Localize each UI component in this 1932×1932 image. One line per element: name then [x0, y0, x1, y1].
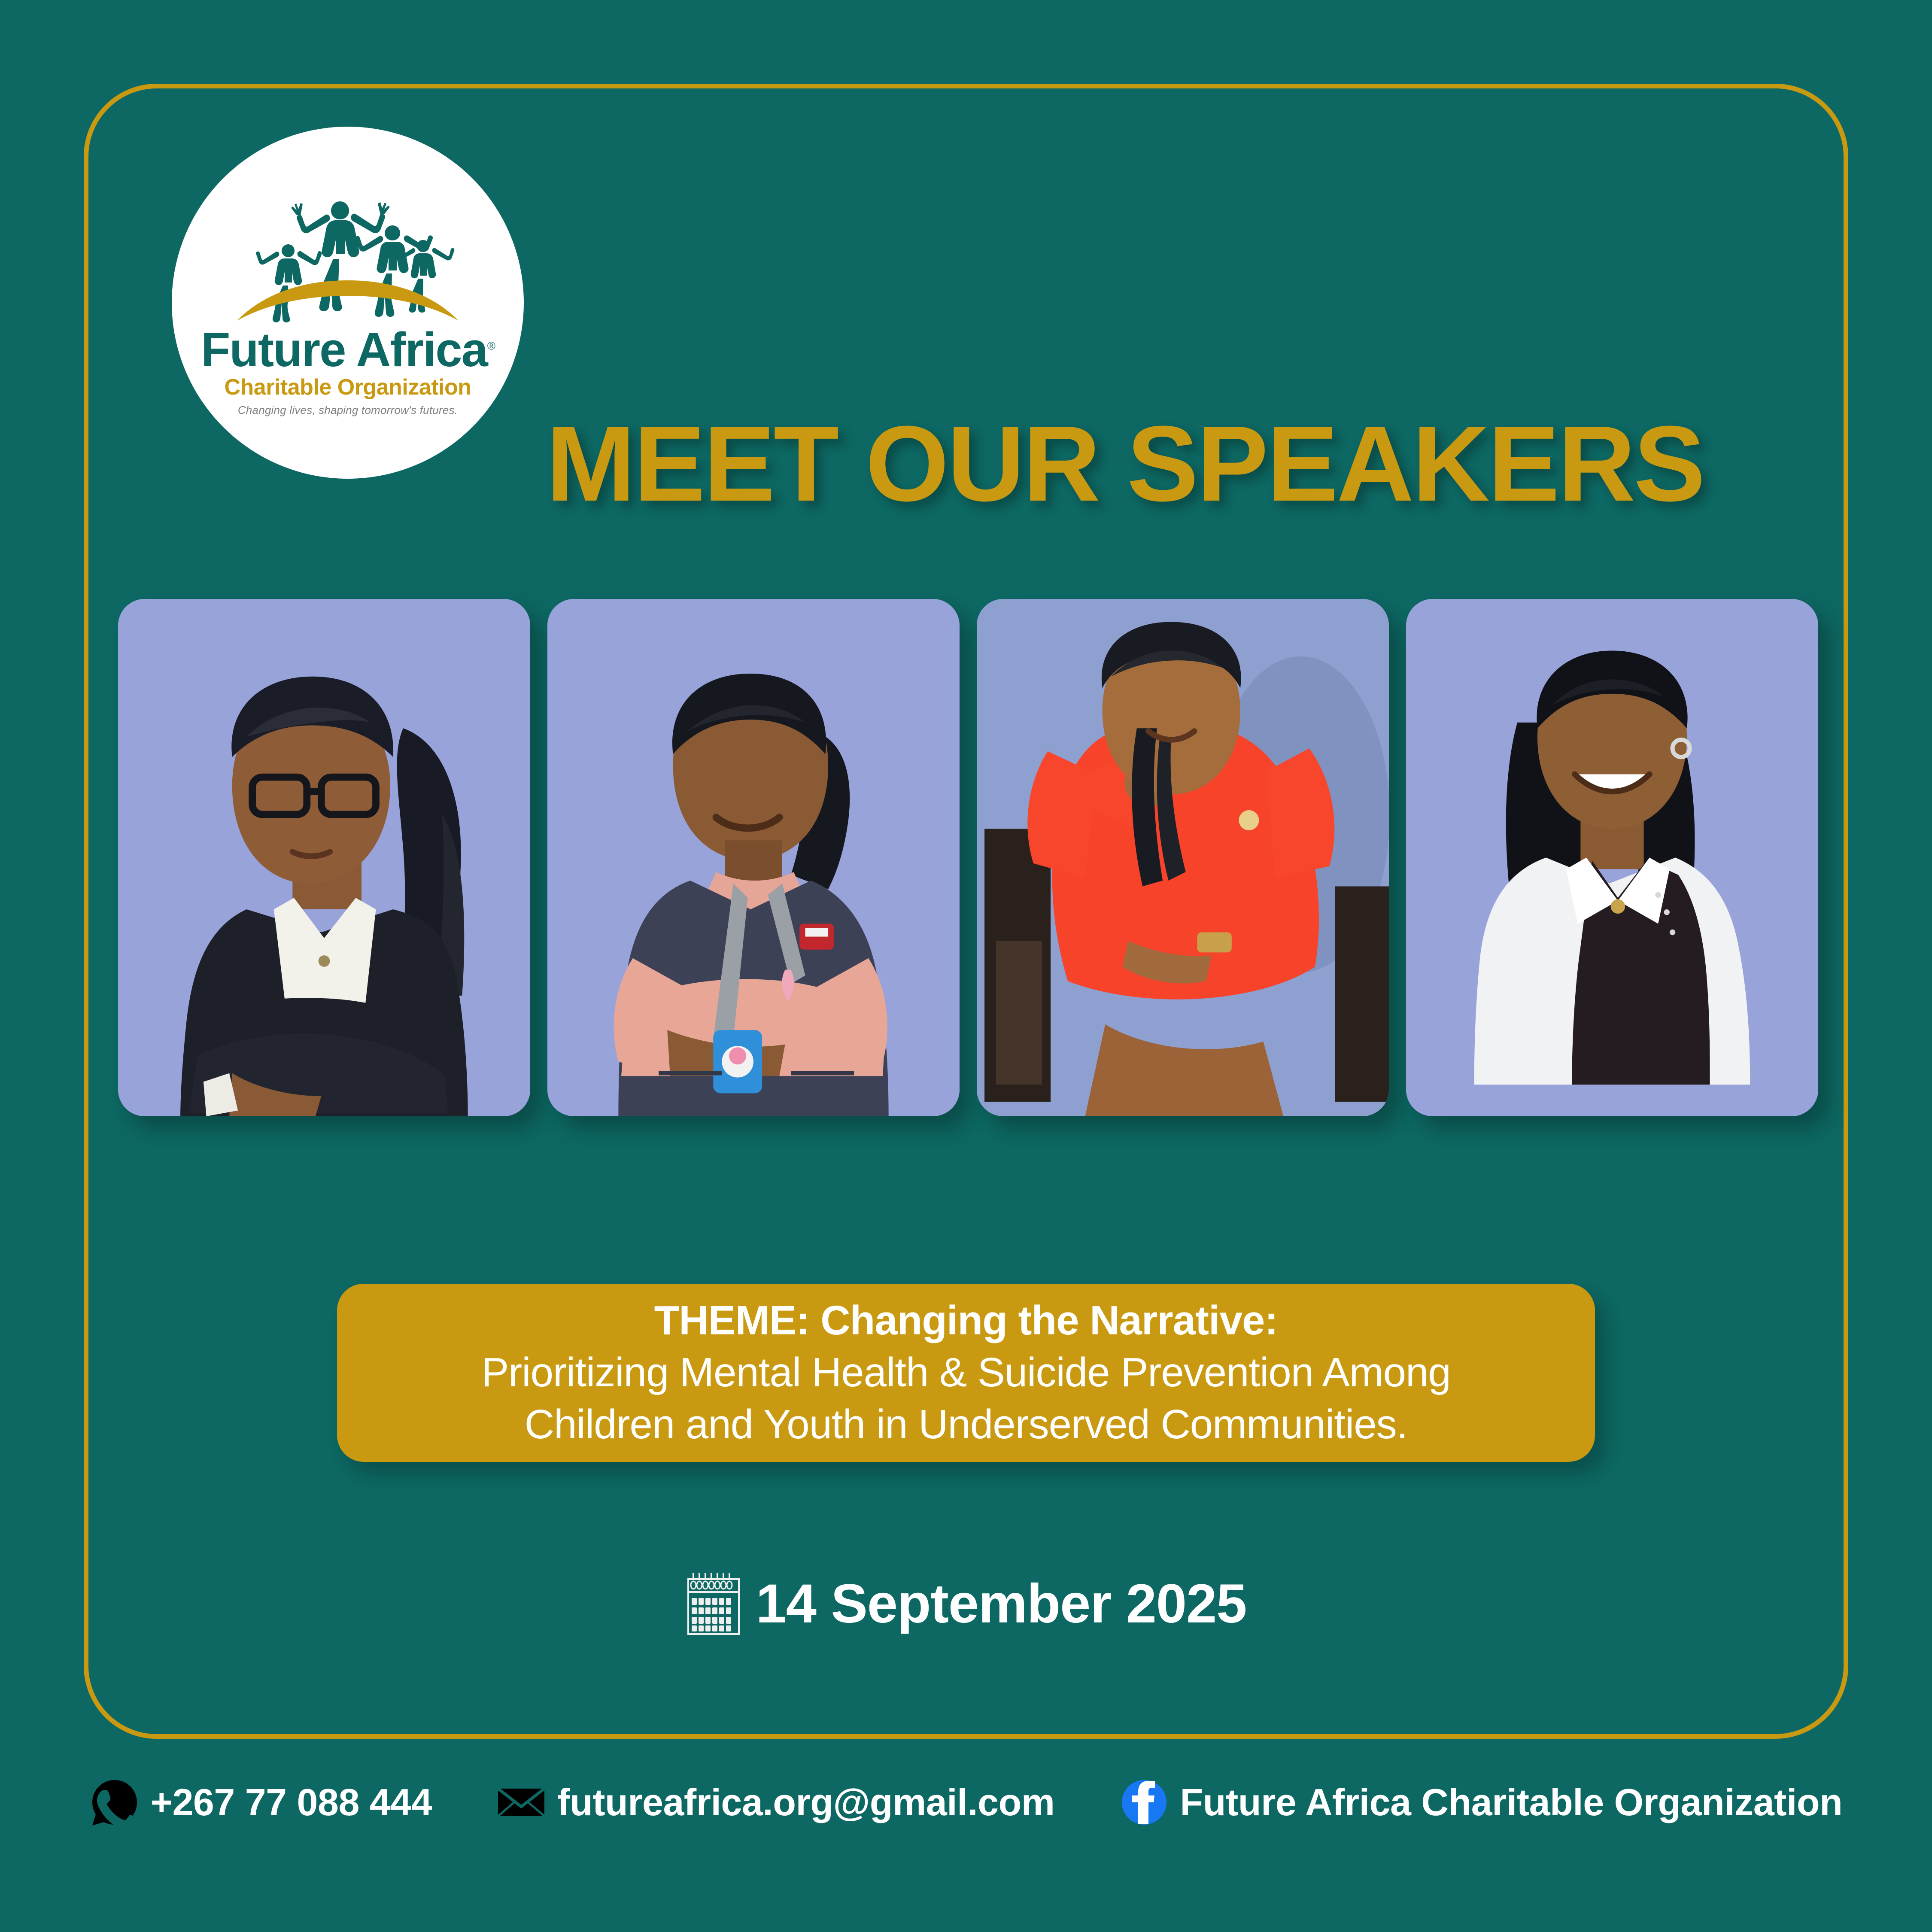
logo-wordmark: Future Africa® — [201, 326, 495, 374]
event-date-row: 14 September 2025 — [0, 1571, 1932, 1637]
jumping-children-icon — [228, 196, 468, 325]
contact-email[interactable]: futureafrica.org@gmail.com — [496, 1777, 1054, 1827]
event-date: 14 September 2025 — [756, 1577, 1247, 1631]
poster-canvas: Future Africa® Charitable Organization C… — [0, 0, 1932, 1932]
logo-registered-mark: ® — [487, 340, 495, 352]
footer-contacts: +267 77 088 444 futureafrica.org@gmail.c… — [0, 1777, 1932, 1827]
facebook-page-name: Future Africa Charitable Organization — [1180, 1783, 1843, 1821]
speaker-photo-3 — [977, 599, 1389, 1116]
contact-whatsapp[interactable]: +267 77 088 444 — [90, 1777, 432, 1827]
email-address: futureafrica.org@gmail.com — [557, 1783, 1054, 1821]
speaker-photo-2 — [547, 599, 960, 1116]
theme-label: THEME: — [654, 1297, 810, 1343]
logo-subtitle: Charitable Organization — [224, 376, 471, 399]
theme-line-2: Prioritizing Mental Health & Suicide Pre… — [481, 1347, 1451, 1399]
page-title: MEET OUR SPEAKERS — [502, 410, 1747, 517]
contact-facebook[interactable]: Future Africa Charitable Organization — [1119, 1777, 1843, 1827]
theme-banner: THEME: Changing the Narrative: Prioritiz… — [337, 1284, 1595, 1462]
whatsapp-icon — [90, 1777, 140, 1827]
envelope-icon — [496, 1777, 546, 1827]
facebook-icon — [1119, 1777, 1169, 1827]
calendar-icon — [686, 1571, 741, 1637]
speaker-card-1 — [118, 599, 530, 1116]
speaker-photo-4 — [1406, 599, 1818, 1116]
speaker-card-4 — [1406, 599, 1818, 1116]
logo-name: Future Africa — [201, 323, 487, 377]
speaker-photo-1 — [118, 599, 530, 1116]
theme-line-1: THEME: Changing the Narrative: — [654, 1295, 1278, 1347]
speaker-card-3 — [977, 599, 1389, 1116]
organization-logo: Future Africa® Charitable Organization C… — [172, 127, 524, 479]
logo-tagline: Changing lives, shaping tomorrow's futur… — [238, 404, 458, 417]
whatsapp-number: +267 77 088 444 — [151, 1783, 432, 1821]
theme-line-3: Children and Youth in Underserved Commun… — [525, 1399, 1408, 1451]
speaker-card-2 — [547, 599, 960, 1116]
theme-line-1-rest: Changing the Narrative: — [810, 1297, 1278, 1343]
speaker-photo-strip — [118, 599, 1818, 1116]
